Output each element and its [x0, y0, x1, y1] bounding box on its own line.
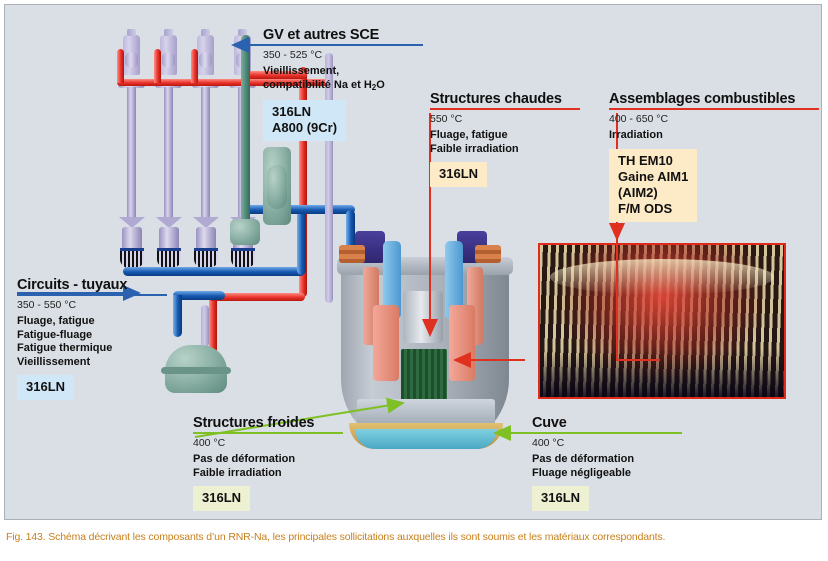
label-block-assemblages: Assemblages combustibles 400 - 650 °C Ir… [609, 91, 819, 222]
label-block-structures-chaudes: Structures chaudes 550 °C Fluage, fatigu… [430, 91, 580, 187]
hot-sodium-riser-3 [191, 49, 198, 83]
hot-sodium-riser-1 [117, 49, 124, 83]
assemblages-temperature: 400 - 650 °C [609, 113, 819, 125]
circuits-title: Circuits - tuyaux [17, 277, 167, 294]
figure-frame: GV et autres SCE 350 - 525 °C Vieillisse… [4, 4, 822, 520]
cuve-materials-badge: 316LN [532, 486, 589, 511]
sg-cap [201, 29, 210, 36]
turbine-housing [267, 165, 287, 209]
cuve-material-1: 316LN [541, 490, 580, 506]
structures-chaudes-rule [430, 108, 580, 110]
circuits-rule [17, 294, 167, 296]
redan-left [373, 305, 399, 381]
vessel-bottom-pool [355, 429, 497, 449]
sg-upper-vessel [123, 35, 140, 75]
steam-separator [230, 219, 260, 245]
hot-sodium-riser-2 [154, 49, 161, 83]
assemblages-material-4: F/M ODS [618, 201, 688, 217]
assemblages-material-3: (AIM2) [618, 185, 688, 201]
sg-tube [201, 87, 210, 217]
cold-sodium-header [123, 267, 305, 276]
circuits-material-1: 316LN [26, 379, 65, 395]
sg-tube [127, 87, 136, 217]
circuits-materials-badge: 316LN [17, 375, 74, 400]
copper-nozzle-left [339, 245, 365, 263]
sg-cap [127, 29, 136, 36]
sg-tube-bundle [157, 248, 181, 268]
above-core-structure [403, 291, 443, 343]
assemblages-material-2: Gaine AIM1 [618, 169, 688, 185]
cuve-title: Cuve [532, 415, 682, 432]
gv-temperature: 350 - 525 °C [263, 49, 423, 61]
assemblages-material-1: TH EM10 [618, 153, 688, 169]
cold-sodium-inlet-leg [173, 295, 182, 337]
assemblages-title: Assemblages combustibles [609, 91, 819, 108]
cuve-stress-line-1: Pas de déformation [532, 453, 682, 467]
circuits-stress-line-4: Vieillissement [17, 356, 167, 370]
structures-froides-rule [193, 432, 343, 434]
copper-nozzle-right [475, 245, 501, 263]
structures-froides-material-1: 316LN [202, 490, 241, 506]
circuits-stress-line-3: Fatigue thermique [17, 342, 167, 356]
gv-stress-line-2: compatibilité Na et H2O [263, 79, 423, 95]
sg-bulge [199, 52, 212, 68]
structures-froides-temperature: 400 °C [193, 437, 343, 449]
figure-caption: Fig. 143. Schéma décrivant les composant… [6, 531, 822, 543]
sg-tube-bundle [120, 248, 144, 268]
structures-chaudes-stress-line-2: Faible irradiation [430, 143, 580, 157]
assemblages-rule [609, 108, 819, 110]
structures-chaudes-temperature: 550 °C [430, 113, 580, 125]
figure-page: GV et autres SCE 350 - 525 °C Vieillisse… [0, 0, 828, 561]
cuve-stress-line-2: Fluage négligeable [532, 467, 682, 481]
cold-sodium-to-vessel [245, 205, 355, 214]
structures-chaudes-material-1: 316LN [439, 166, 478, 182]
sg-cap [164, 29, 173, 36]
photo-dark-corner [540, 349, 784, 397]
gv-rule [263, 44, 423, 46]
expansion-tank-band [161, 367, 231, 374]
gv-materials-badge: 316LN A800 (9Cr) [263, 100, 346, 141]
label-block-cuve: Cuve 400 °C Pas de déformation Fluage né… [532, 415, 682, 511]
gv-stress-line-1: Vieillissement, [263, 65, 423, 79]
sg-bulge [125, 52, 138, 68]
hot-sodium-downcomer [209, 295, 217, 353]
sg-tube-bundle [194, 248, 218, 268]
sg-upper-vessel [160, 35, 177, 75]
sg-tube-bundle [231, 248, 255, 268]
sg-bulge [162, 52, 175, 68]
redan-right [449, 305, 475, 381]
steam-line [241, 35, 250, 235]
core-region [401, 349, 447, 401]
cold-sodium-riser [297, 205, 306, 275]
sg-upper-vessel [197, 35, 214, 75]
structures-froides-materials-badge: 316LN [193, 486, 250, 511]
structures-froides-stress-line-2: Faible irradiation [193, 467, 343, 481]
sg-tube [164, 87, 173, 217]
circuits-stress-line-1: Fluage, fatigue [17, 315, 167, 329]
secondary-pipe-to-tank [201, 305, 209, 347]
gv-material-1: 316LN [272, 104, 337, 120]
structures-froides-stress-line-1: Pas de déformation [193, 453, 343, 467]
structures-froides-title: Structures froides [193, 415, 343, 432]
cuve-temperature: 400 °C [532, 437, 682, 449]
gv-material-2: A800 (9Cr) [272, 120, 337, 136]
label-block-gv: GV et autres SCE 350 - 525 °C Vieillisse… [263, 27, 423, 141]
assemblages-stress-line-1: Irradiation [609, 129, 819, 143]
circuits-stress-line-2: Fatigue-fluage [17, 329, 167, 343]
cuve-rule [532, 432, 682, 434]
gv-title: GV et autres SCE [263, 27, 423, 44]
fuel-assemblies-photograph [538, 243, 786, 399]
structures-chaudes-stress-line-1: Fluage, fatigue [430, 129, 580, 143]
label-block-circuits: Circuits - tuyaux 350 - 550 °C Fluage, f… [17, 277, 167, 400]
structures-chaudes-materials-badge: 316LN [430, 162, 487, 187]
circuits-temperature: 350 - 550 °C [17, 299, 167, 311]
label-block-structures-froides: Structures froides 400 °C Pas de déforma… [193, 415, 343, 511]
assemblages-materials-badge: TH EM10 Gaine AIM1 (AIM2) F/M ODS [609, 149, 697, 222]
photo-rim-highlight [550, 259, 774, 295]
structures-chaudes-title: Structures chaudes [430, 91, 580, 108]
